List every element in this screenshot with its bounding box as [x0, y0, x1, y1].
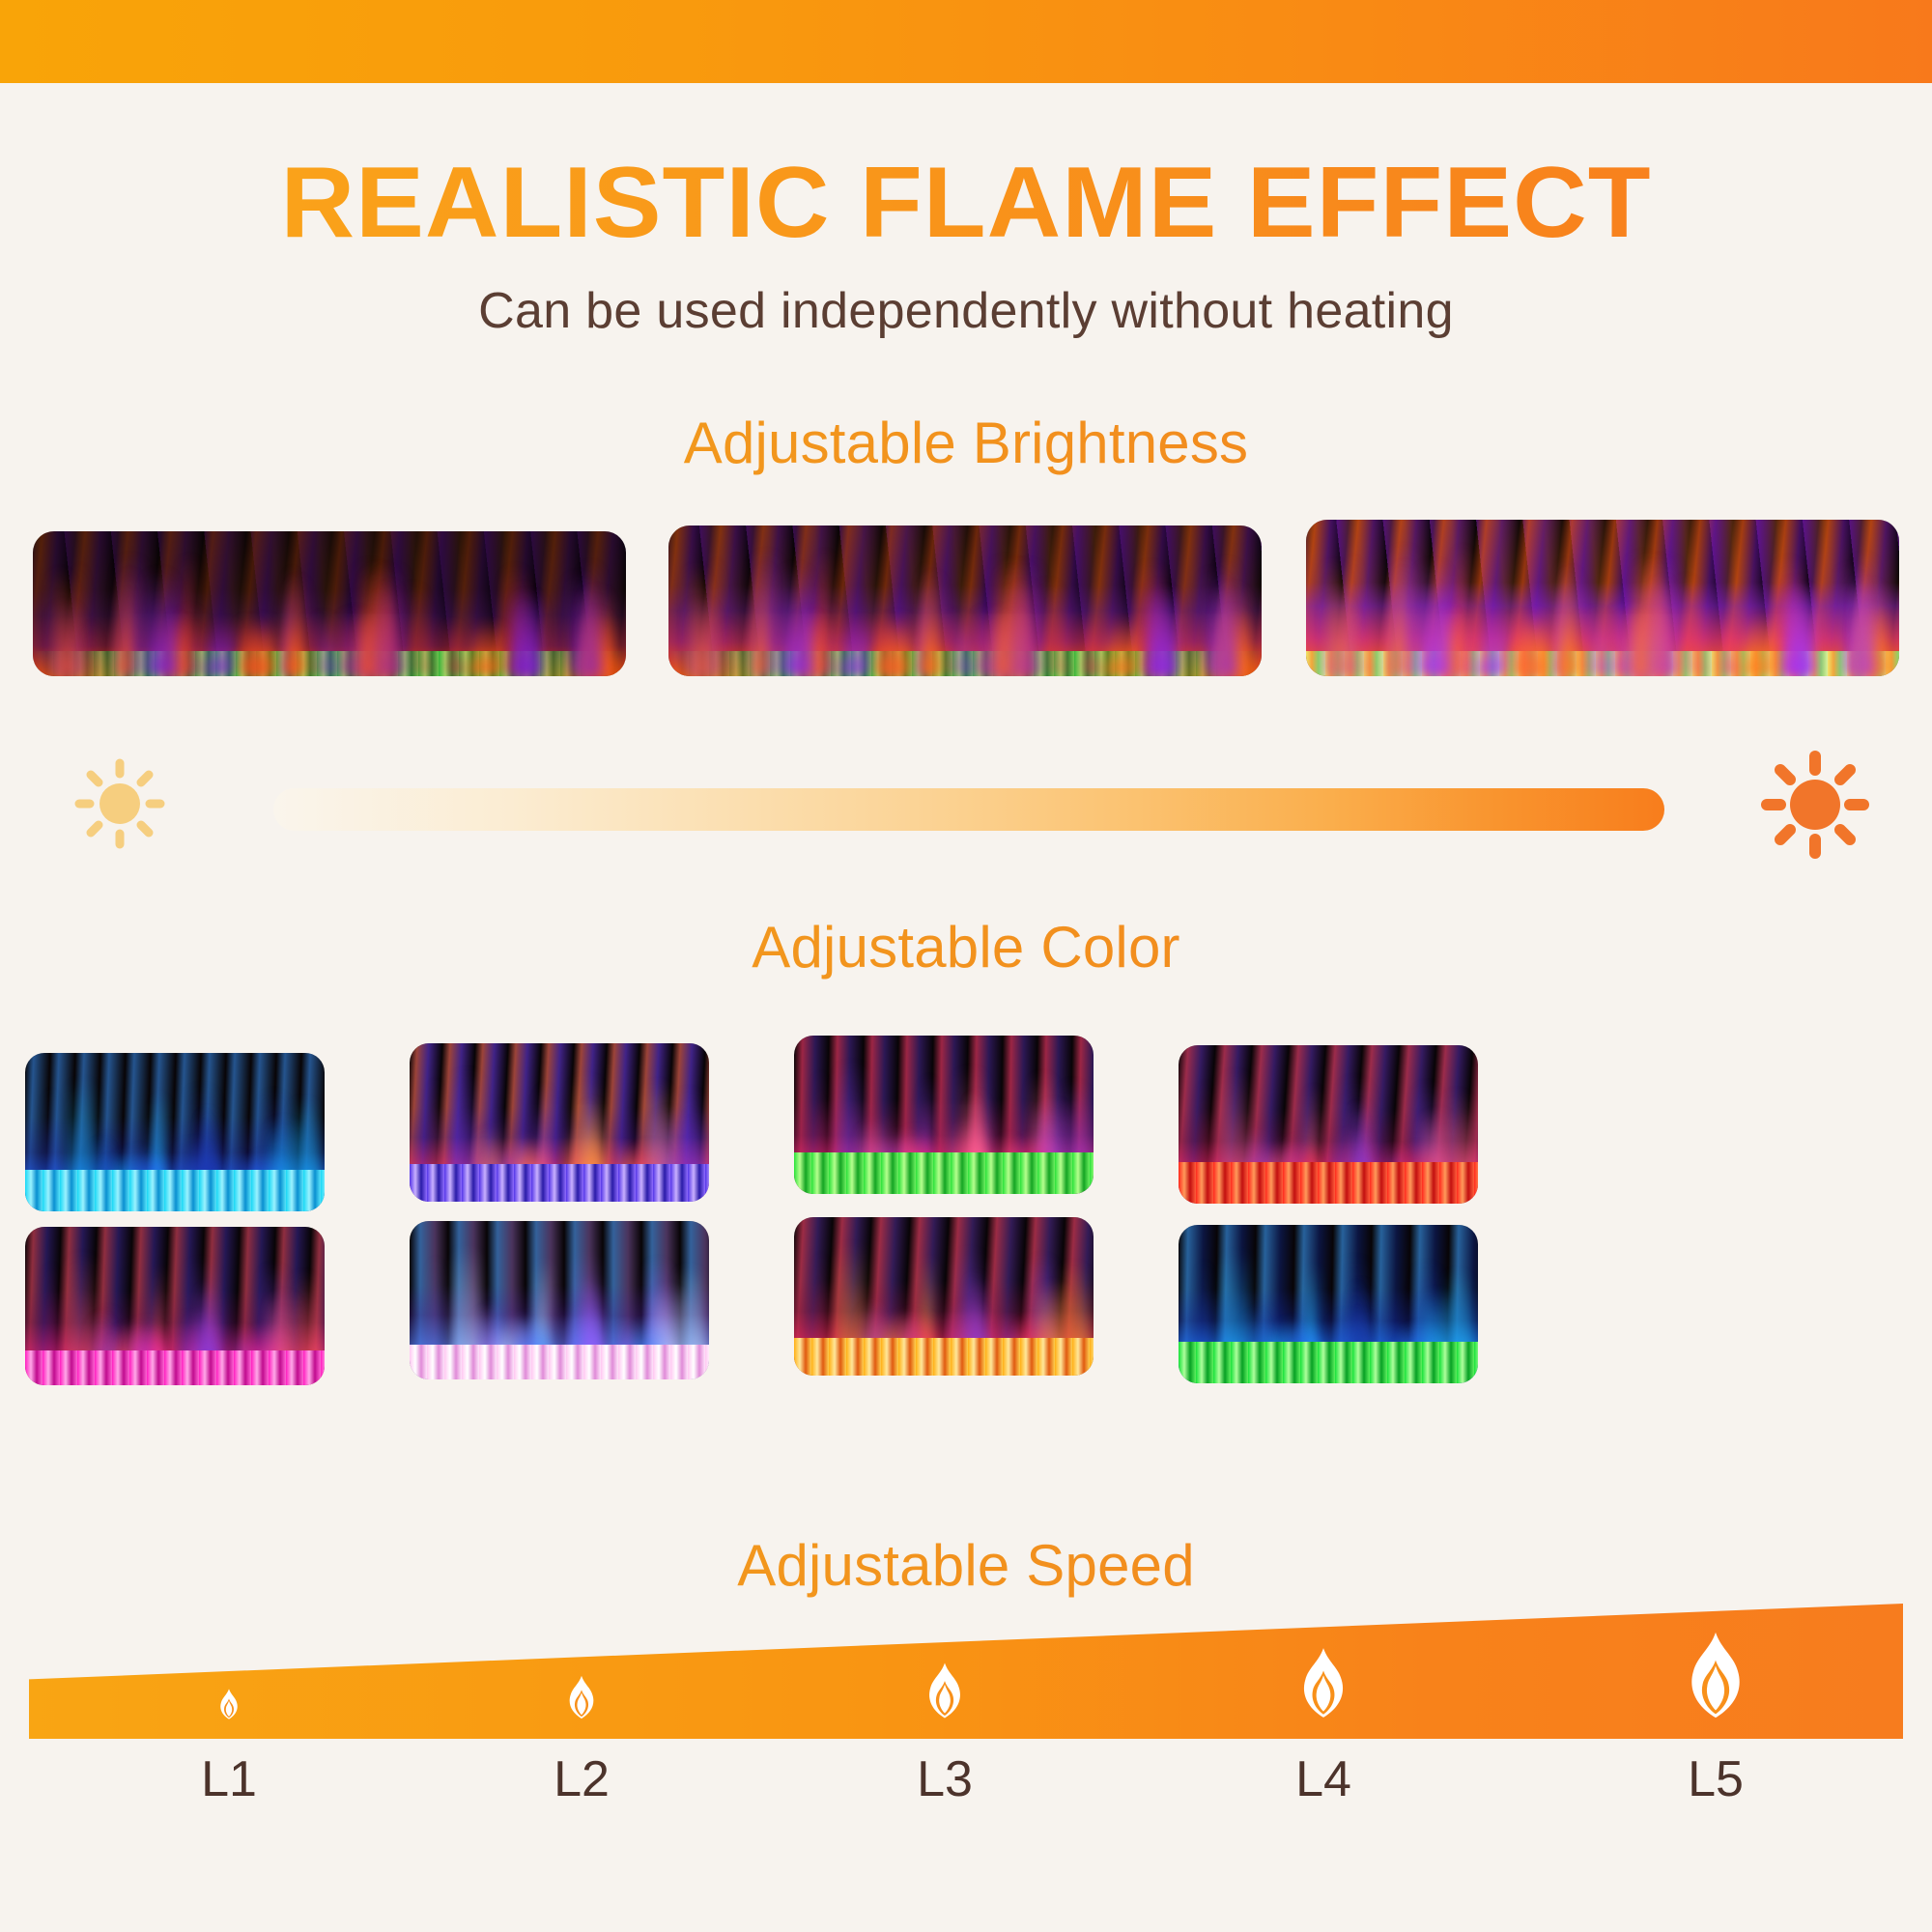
ember-bed	[25, 1170, 325, 1211]
speed-scale: L1 L2 L3 L4 L5	[0, 1604, 1932, 1893]
brightness-slider[interactable]	[273, 788, 1664, 831]
sun-low-icon	[70, 753, 170, 854]
flame-icon	[1286, 1645, 1361, 1720]
page-subtitle: Can be used independently without heatin…	[0, 282, 1932, 340]
color-preview-red-crimson	[1179, 1045, 1478, 1204]
color-preview-blue-cyan	[25, 1053, 325, 1211]
brightness-preview-medium	[668, 526, 1262, 676]
speed-level-label: L5	[1688, 1750, 1744, 1808]
flame-icon	[213, 1688, 245, 1720]
ember-bed	[1179, 1342, 1478, 1383]
color-preview-blue-green	[1179, 1225, 1478, 1383]
speed-level-label: L2	[554, 1750, 610, 1808]
brightness-slider-row	[0, 763, 1932, 856]
color-preview-violet-red	[410, 1043, 709, 1202]
flame-icon	[558, 1674, 605, 1720]
flame-icon	[915, 1661, 975, 1720]
flame-icon	[1669, 1629, 1762, 1721]
speed-level-label: L4	[1295, 1750, 1351, 1808]
ember-bed	[410, 1164, 709, 1202]
ember-bed	[794, 1338, 1094, 1376]
color-preview-blue-white	[410, 1221, 709, 1379]
color-preview-magenta	[25, 1227, 325, 1385]
brightness-preview-high	[1306, 520, 1899, 676]
ember-bed	[410, 1345, 709, 1379]
top-accent-bar	[0, 0, 1932, 83]
page-title: REALISTIC FLAME EFFECT	[0, 151, 1932, 256]
sun-high-icon	[1756, 746, 1874, 864]
section-heading-brightness: Adjustable Brightness	[0, 410, 1932, 476]
color-preview-pink-green	[794, 1036, 1094, 1194]
section-heading-color: Adjustable Color	[0, 914, 1932, 980]
speed-level-label: L3	[917, 1750, 973, 1808]
ember-bed	[794, 1152, 1094, 1194]
section-heading-speed: Adjustable Speed	[0, 1532, 1932, 1599]
speed-level-label: L1	[201, 1750, 257, 1808]
ember-bed	[25, 1350, 325, 1385]
ember-bed	[1179, 1162, 1478, 1204]
color-preview-red-amber	[794, 1217, 1094, 1376]
brightness-preview-low	[33, 531, 626, 676]
